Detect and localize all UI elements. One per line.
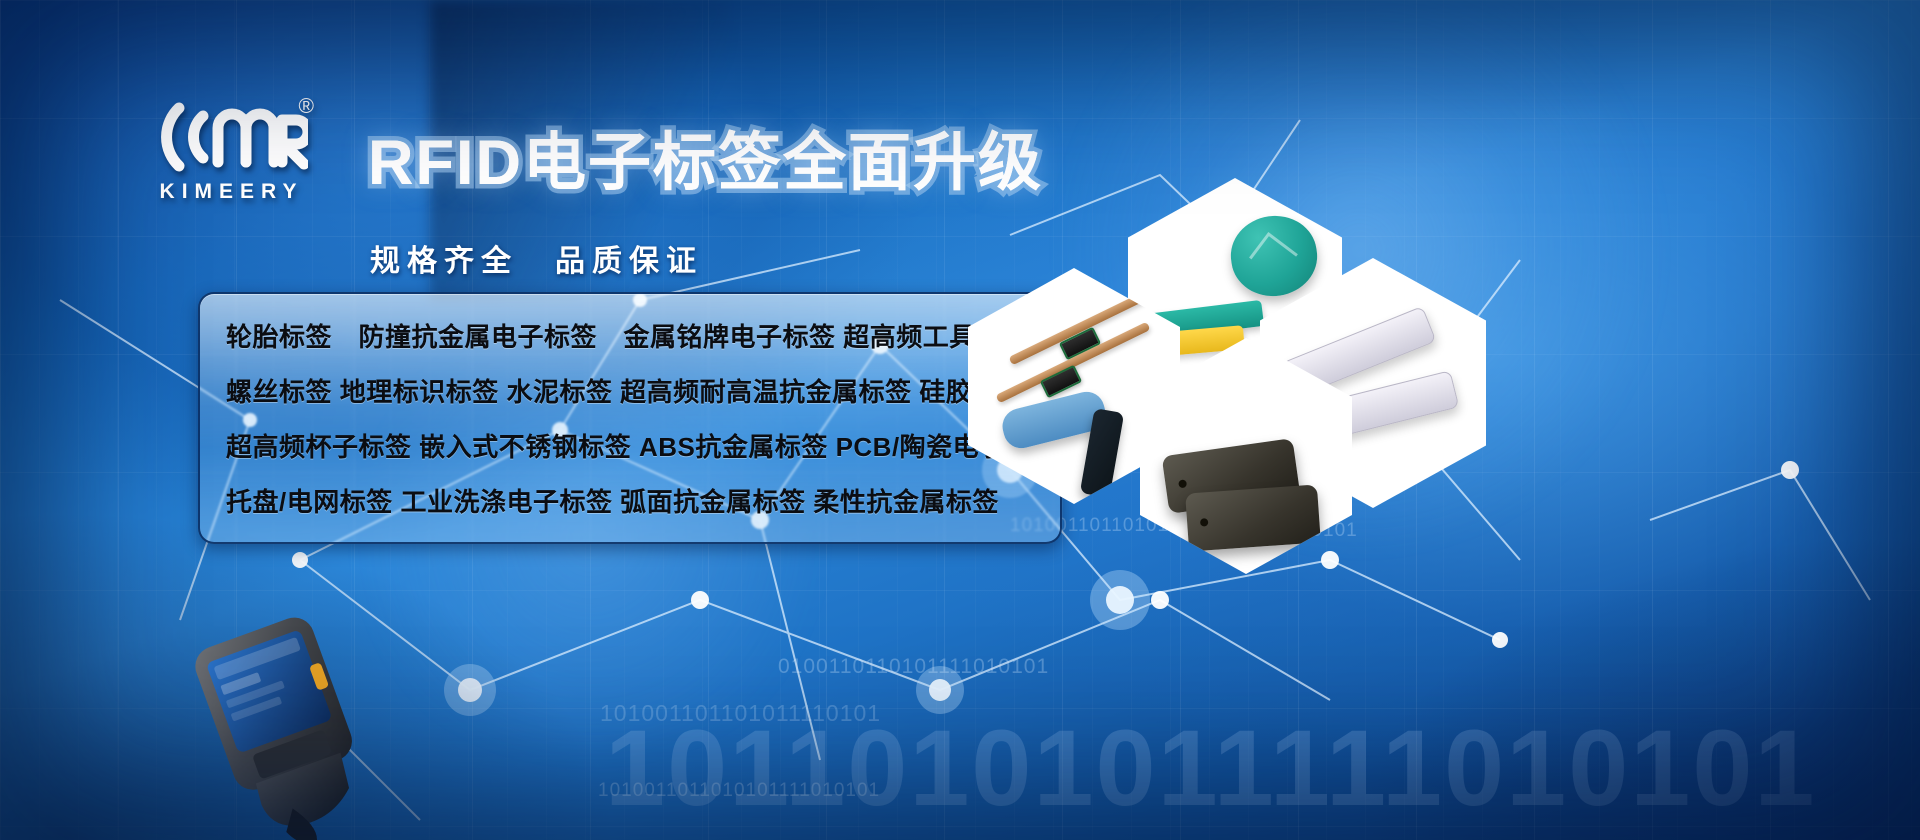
brand-wordmark: KIMEERY [148, 180, 308, 204]
rfid-promo-banner: 101001101101011110101 010011011010111101… [0, 0, 1920, 840]
registered-trademark-icon: ® [299, 96, 314, 117]
page-title: RFID电子标签全面升级 [368, 112, 1043, 203]
background-shadow-bottom-right [1360, 540, 1920, 840]
binary-string: 0100110110101111010101 [778, 655, 1049, 679]
dark-metal-plate-lower [1185, 484, 1321, 551]
product-list-panel: 轮胎标签 防撞抗金属电子标签 金属铭牌电子标签 超高频工具标签 螺丝标签 地理标… [198, 292, 1062, 544]
product-list-row: 轮胎标签 防撞抗金属电子标签 金属铭牌电子标签 超高频工具标签 [226, 317, 1034, 354]
product-list-row: 托盘/电网标签 工业洗涤电子标签 弧面抗金属标签 柔性抗金属标签 [226, 482, 1034, 519]
binary-string: 1010011011010101111010101 [598, 780, 880, 802]
product-list-row: 螺丝标签 地理标识标签 水泥标签 超高频耐高温抗金属标签 硅胶腕带 [226, 372, 1034, 409]
green-disc-tag [1226, 210, 1322, 301]
handheld-rfid-reader [178, 612, 438, 840]
product-list-row: 超高频杯子标签 嵌入式不锈钢标签 ABS抗金属标签 PCB/陶瓷电子标签 [226, 427, 1034, 464]
subtitle: 规格齐全 品质保证 [370, 236, 703, 280]
kimeery-signal-logo-icon: ® [148, 100, 308, 174]
brand-logo: ® KIMEERY [148, 100, 308, 204]
